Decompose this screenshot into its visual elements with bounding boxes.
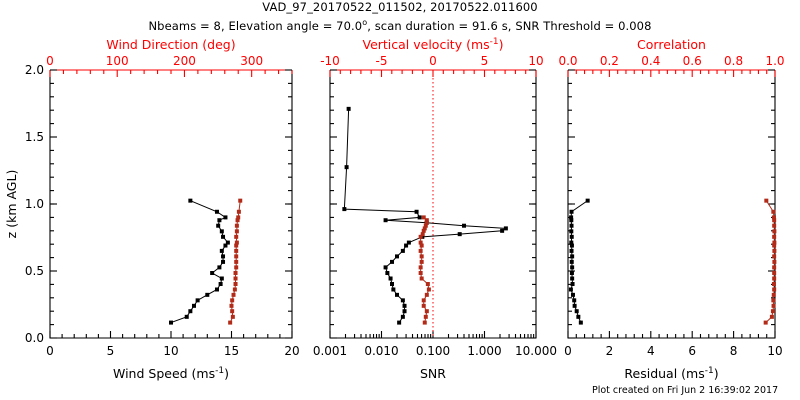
data-point-marker	[570, 249, 574, 253]
xticklabel-bottom: 10	[163, 344, 178, 358]
data-point-marker	[771, 210, 775, 214]
data-point-marker	[234, 235, 238, 239]
data-point-marker	[196, 298, 200, 302]
data-point-marker	[230, 304, 234, 308]
data-point-marker	[220, 229, 224, 233]
data-point-marker	[401, 249, 405, 253]
xticklabel-top: -10	[320, 54, 340, 68]
data-point-marker	[572, 298, 576, 302]
data-point-marker	[764, 199, 768, 203]
data-point-marker	[569, 241, 573, 245]
data-point-marker	[422, 215, 426, 219]
data-point-marker	[419, 241, 423, 245]
data-point-marker	[569, 229, 573, 233]
xaxis-title-bottom: SNR	[420, 366, 446, 381]
data-point-marker	[772, 277, 776, 281]
xticklabel-bottom: 15	[224, 344, 239, 358]
data-point-marker	[234, 249, 238, 253]
xticklabel-bottom: 0.010	[364, 344, 398, 358]
data-point-marker	[347, 107, 351, 111]
xaxis-title-top: Vertical velocity (ms-1)	[362, 37, 503, 52]
xaxis-title-top-tail: )	[499, 37, 504, 52]
data-point-marker	[407, 241, 411, 245]
xticklabel-top: 0.0	[558, 54, 577, 68]
data-point-marker	[570, 224, 574, 228]
data-point-marker	[571, 282, 575, 286]
data-point-marker	[570, 271, 574, 275]
data-point-marker	[205, 293, 209, 297]
xticklabel-top: -5	[376, 54, 388, 68]
xaxis-title-top: Wind Direction (deg)	[106, 37, 235, 52]
data-point-marker	[238, 199, 242, 203]
data-point-marker	[462, 224, 466, 228]
data-point-marker	[415, 210, 419, 214]
data-point-marker	[423, 321, 427, 325]
figure-title-block: VAD_97_20170522_011502, 20170522.011600 …	[0, 0, 800, 34]
data-point-marker	[403, 304, 407, 308]
data-point-marker	[215, 210, 219, 214]
data-point-marker	[772, 287, 776, 291]
data-point-marker	[215, 287, 219, 291]
data-point-marker	[772, 304, 776, 308]
data-point-marker	[772, 282, 776, 286]
data-point-marker	[234, 282, 238, 286]
data-point-marker	[217, 265, 221, 269]
data-point-marker	[234, 260, 238, 264]
xticklabel-bottom: 0.100	[416, 344, 450, 358]
data-point-marker	[228, 321, 232, 325]
data-point-marker	[401, 298, 405, 302]
data-point-marker	[221, 260, 225, 264]
xticklabel-bottom: 10.000	[515, 344, 557, 358]
data-point-marker	[385, 271, 389, 275]
data-point-marker	[403, 309, 407, 313]
data-point-marker	[422, 304, 426, 308]
data-point-marker	[235, 241, 239, 245]
data-point-marker	[210, 271, 214, 275]
data-point-marker	[458, 232, 462, 236]
data-point-marker	[169, 321, 173, 325]
xticklabel-top: 0	[46, 54, 54, 68]
data-point-marker	[571, 293, 575, 297]
data-point-marker	[230, 298, 234, 302]
data-point-marker	[772, 265, 776, 269]
data-point-marker	[230, 309, 234, 313]
xticklabel-bottom: 2	[606, 344, 614, 358]
plot-credit: Plot created on Fri Jun 2 16:39:02 2017	[592, 385, 778, 396]
data-point-marker	[219, 282, 223, 286]
data-point-marker	[420, 254, 424, 258]
data-point-marker	[234, 277, 238, 281]
data-point-marker	[570, 265, 574, 269]
xticklabel-bottom: 0.001	[313, 344, 347, 358]
xaxis-title-top: Correlation	[637, 37, 706, 52]
data-point-marker	[772, 271, 776, 275]
title-suffix: , scan duration = 91.6 s, SNR Threshold …	[367, 19, 651, 33]
data-point-marker	[188, 309, 192, 313]
data-point-marker	[772, 229, 776, 233]
data-point-marker	[185, 315, 189, 319]
data-point-marker	[231, 315, 235, 319]
xticklabel-bottom: 20	[284, 344, 299, 358]
data-point-marker	[570, 254, 574, 258]
data-point-marker	[570, 235, 574, 239]
data-point-marker	[426, 282, 430, 286]
figure-title-line2: Nbeams = 8, Elevation angle = 70.0o, sca…	[0, 15, 800, 34]
xticklabel-top: 300	[240, 54, 263, 68]
yticklabel: 1.5	[25, 130, 44, 144]
yticklabel: 0.5	[25, 264, 44, 278]
xticklabel-top: 0	[429, 54, 437, 68]
xticklabel-top: 10	[528, 54, 543, 68]
xticklabel-top: 100	[106, 54, 129, 68]
yticklabel: 2.0	[25, 63, 44, 77]
plot-figure: VAD_97_20170522_011502, 20170522.011600 …	[0, 0, 800, 400]
panel-frame	[568, 70, 775, 338]
data-point-marker	[573, 304, 577, 308]
data-point-marker	[424, 315, 428, 319]
data-point-marker	[391, 287, 395, 291]
data-point-marker	[233, 287, 237, 291]
xticklabel-bottom: 0	[564, 344, 572, 358]
data-point-marker	[401, 315, 405, 319]
data-point-marker	[504, 226, 508, 230]
data-point-marker	[569, 215, 573, 219]
xticklabel-top: 0.8	[724, 54, 743, 68]
data-point-marker	[420, 260, 424, 264]
xaxis-title-tail: )	[714, 366, 719, 381]
xaxis-title-bottom: Residual (ms-1)	[624, 366, 718, 381]
panel-3: 02468100.00.20.40.60.81.0Residual (ms-1)…	[558, 37, 784, 381]
data-point-marker	[419, 271, 423, 275]
data-point-marker	[221, 235, 225, 239]
exponent: -1	[215, 366, 224, 376]
data-point-marker	[220, 277, 224, 281]
data-point-marker	[427, 287, 431, 291]
data-point-marker	[397, 321, 401, 325]
xticklabel-bottom: 10	[767, 344, 782, 358]
data-point-marker	[771, 298, 775, 302]
xticklabel-top: 5	[481, 54, 489, 68]
title-prefix: Nbeams = 8, Elevation angle = 70.0	[148, 19, 362, 33]
data-point-marker	[226, 241, 230, 245]
xticklabel-bottom: 1.000	[467, 344, 501, 358]
data-point-marker	[235, 229, 239, 233]
data-point-marker	[772, 249, 776, 253]
xticklabel-top: 200	[173, 54, 196, 68]
data-point-marker	[772, 235, 776, 239]
data-point-marker	[569, 287, 573, 291]
data-point-marker	[188, 199, 192, 203]
data-point-marker	[234, 265, 238, 269]
xticklabel-bottom: 0	[46, 344, 54, 358]
panel-frame	[50, 70, 292, 338]
data-point-marker	[570, 210, 574, 214]
yticklabel: 1.0	[25, 197, 44, 211]
data-point-marker	[575, 309, 579, 313]
exponent: -1	[705, 366, 714, 376]
data-point-marker	[235, 224, 239, 228]
data-point-marker	[232, 293, 236, 297]
plot-canvas: 0510152001002003000.00.51.01.52.0Wind Sp…	[0, 0, 800, 400]
data-point-marker	[419, 265, 423, 269]
data-point-marker	[236, 215, 240, 219]
xticklabel-bottom: 6	[688, 344, 696, 358]
data-point-marker	[220, 249, 224, 253]
data-point-marker	[586, 199, 590, 203]
data-point-marker	[384, 265, 388, 269]
data-point-marker	[384, 218, 388, 222]
data-point-marker	[223, 215, 227, 219]
xaxis-title-bottom: Wind Speed (ms-1)	[113, 366, 229, 381]
data-point-marker	[422, 298, 426, 302]
xticklabel-top: 0.4	[641, 54, 660, 68]
data-point-marker	[389, 277, 393, 281]
data-point-marker	[418, 215, 422, 219]
data-point-marker	[217, 218, 221, 222]
data-point-marker	[390, 282, 394, 286]
data-point-marker	[771, 309, 775, 313]
data-point-marker	[420, 277, 424, 281]
panel-2: 0.0010.0100.1001.00010.000-10-50510SNRVe…	[313, 37, 557, 381]
xticklabel-top: 0.2	[600, 54, 619, 68]
yaxis-title: z (km AGL)	[4, 170, 19, 239]
data-point-marker	[192, 304, 196, 308]
data-point-marker	[570, 277, 574, 281]
data-point-marker	[419, 249, 423, 253]
data-point-marker	[425, 293, 429, 297]
data-point-marker	[772, 224, 776, 228]
data-point-marker	[395, 254, 399, 258]
data-point-marker	[234, 271, 238, 275]
data-point-marker	[216, 224, 220, 228]
data-point-marker	[425, 309, 429, 313]
data-point-marker	[234, 254, 238, 258]
data-point-marker	[395, 293, 399, 297]
data-point-marker	[772, 260, 776, 264]
xticklabel-bottom: 5	[107, 344, 115, 358]
data-point-marker	[764, 321, 768, 325]
data-point-marker	[570, 260, 574, 264]
panel-1: 0510152001002003000.00.51.01.52.0Wind Sp…	[25, 37, 300, 381]
data-point-marker	[772, 293, 776, 297]
xaxis-title-tail: )	[224, 366, 229, 381]
data-point-marker	[770, 315, 774, 319]
exponent: -1	[490, 37, 499, 47]
data-point-marker	[342, 207, 346, 211]
data-point-marker	[576, 315, 580, 319]
data-point-marker	[237, 210, 241, 214]
xticklabel-top: 1.0	[765, 54, 784, 68]
xticklabel-bottom: 8	[730, 344, 738, 358]
xticklabel-bottom: 4	[647, 344, 655, 358]
data-point-marker	[221, 254, 225, 258]
figure-title-line1: VAD_97_20170522_011502, 20170522.011600	[0, 0, 800, 15]
data-point-marker	[500, 229, 504, 233]
yticklabel: 0.0	[25, 331, 44, 345]
data-point-marker	[345, 165, 349, 169]
xticklabel-top: 0.6	[683, 54, 702, 68]
data-point-marker	[772, 254, 776, 258]
data-point-marker	[772, 215, 776, 219]
data-point-marker	[390, 260, 394, 264]
data-point-marker	[579, 321, 583, 325]
data-point-marker	[772, 241, 776, 245]
